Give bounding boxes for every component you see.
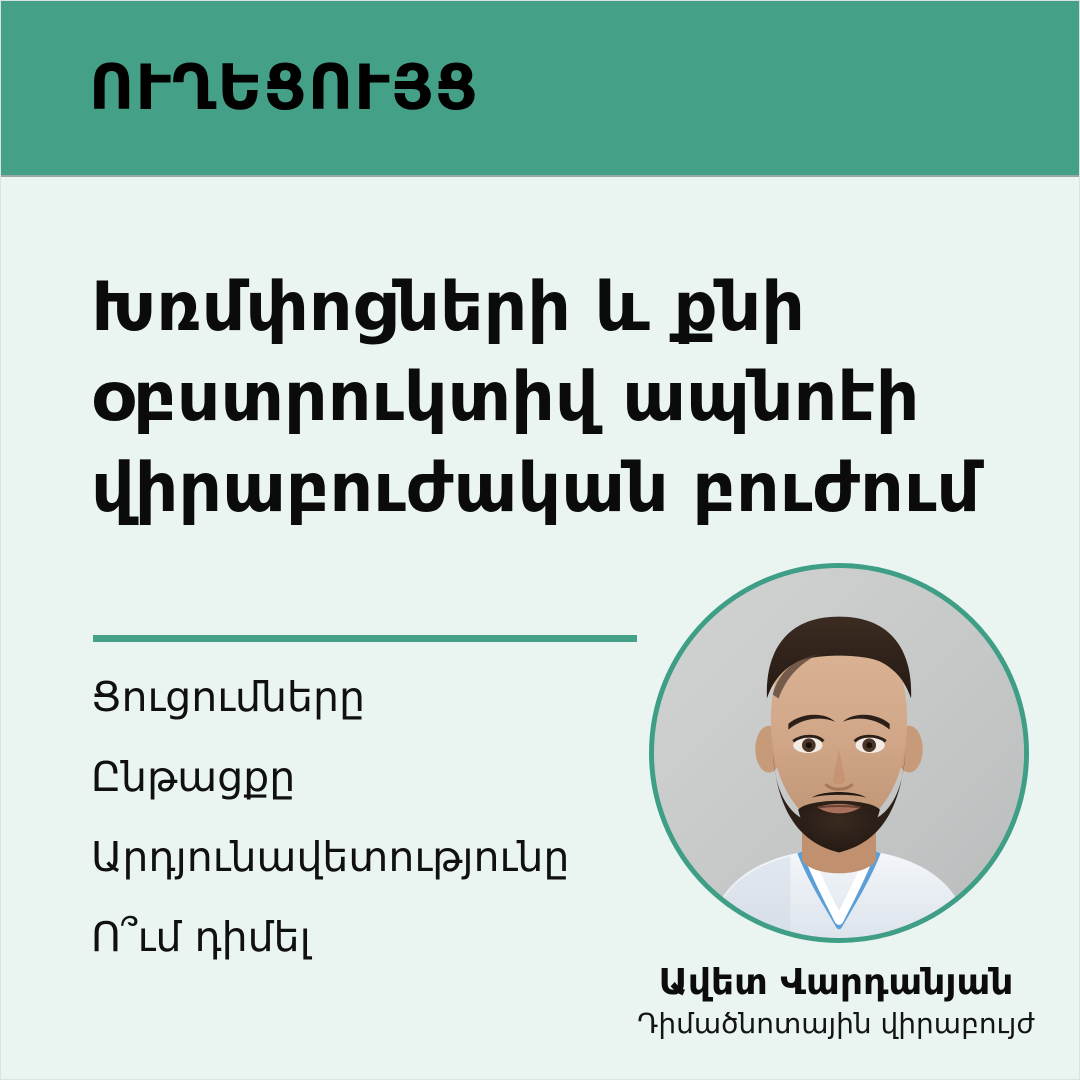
avatar — [649, 563, 1029, 943]
list-item: Արդյունավետությունը — [91, 837, 691, 878]
page-title: Խռմփոցների և քնի օբստրուկտիվ ապնոէի վիրա… — [91, 263, 1021, 534]
list-item: Ցուցումները — [91, 677, 691, 718]
accent-divider — [93, 635, 637, 642]
slide-canvas: ՈՒՂԵՑՈՒՅՑ Խռմփոցների և քնի օբստրուկտիվ ա… — [0, 0, 1080, 1080]
list-item: Ընթացքը — [91, 757, 691, 798]
header-band: ՈՒՂԵՑՈՒՅՑ — [1, 1, 1080, 177]
topic-list: Ցուցումները Ընթացքը Արդյունավետությունը … — [91, 677, 691, 997]
page-title-line-1: Խռմփոցների և քնի — [91, 263, 1021, 353]
speaker-role: Դիմածնոտային վիրաբույժ — [601, 1009, 1071, 1040]
page-title-line-3: վիրաբուժական բուժում — [91, 444, 1021, 534]
avatar-ring — [649, 563, 1029, 943]
speaker-name: Ավետ Վարդանյան — [601, 963, 1071, 1003]
page-title-line-2: օբստրուկտիվ ապնոէի — [91, 353, 1021, 443]
speaker-caption: Ավետ Վարդանյան Դիմածնոտային վիրաբույժ — [601, 963, 1071, 1040]
header-title: ՈՒՂԵՑՈՒՅՑ — [89, 57, 479, 119]
doctor-portrait-photo — [654, 568, 1024, 938]
list-item: Ո՞ւմ դիմել — [91, 917, 691, 958]
